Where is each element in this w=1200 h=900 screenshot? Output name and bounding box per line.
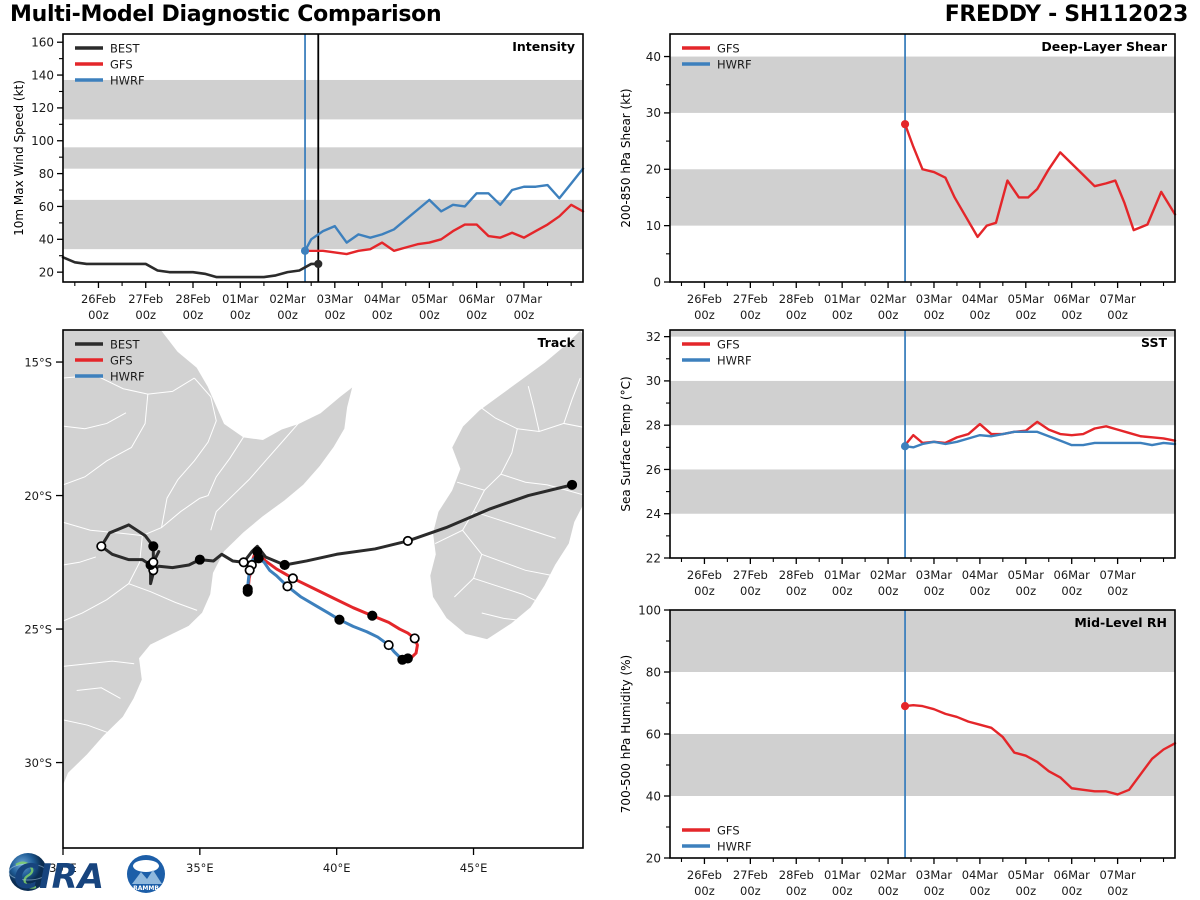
y-tick-label: 60 <box>646 727 661 741</box>
x-tick-label-date: 05Mar <box>1008 292 1045 306</box>
shaded-band <box>670 469 1175 513</box>
track-marker-open <box>410 634 418 642</box>
x-tick-label-date: 07Mar <box>506 292 543 306</box>
data-point-marker <box>901 703 908 710</box>
x-tick-label-date: 27Feb <box>128 292 163 306</box>
data-point-marker <box>901 121 908 128</box>
x-tick-label-hour: 00z <box>970 884 991 898</box>
series-line-best <box>63 257 318 277</box>
track-marker-filled <box>254 554 262 562</box>
map-x-tick-label: 40°E <box>323 861 351 875</box>
rh-plot-area <box>670 610 1175 858</box>
panel-rh: 2040608010026Feb00z27Feb00z28Feb00z01Mar… <box>600 600 1200 900</box>
x-tick-label-date: 28Feb <box>779 868 814 882</box>
x-tick-label-hour: 00z <box>183 308 204 322</box>
track-marker-open <box>149 558 157 566</box>
y-tick-label: 24 <box>646 507 661 521</box>
y-tick-label: 20 <box>646 851 661 865</box>
y-tick-label: 80 <box>39 167 54 181</box>
y-tick-label: 30 <box>646 374 661 388</box>
y-tick-label: 40 <box>646 50 661 64</box>
track-marker-filled <box>335 616 343 624</box>
x-tick-label-date: 06Mar <box>1054 868 1091 882</box>
track-marker-open <box>404 537 412 545</box>
x-tick-label-hour: 00z <box>924 584 945 598</box>
x-tick-label-date: 06Mar <box>1054 292 1091 306</box>
y-tick-label: 26 <box>646 463 661 477</box>
x-tick-label-hour: 00z <box>419 308 440 322</box>
y-tick-label: 120 <box>31 101 54 115</box>
panel-track: 30°E35°E40°E45°E15°S20°S25°S30°STrackBES… <box>0 322 600 900</box>
x-tick-label-date: 26Feb <box>81 292 116 306</box>
x-tick-label-date: 07Mar <box>1099 868 1136 882</box>
x-tick-label-hour: 00z <box>970 308 991 322</box>
legend-label-hwrf: HWRF <box>110 73 145 87</box>
data-point-marker <box>901 443 908 450</box>
track-marker-open <box>97 542 105 550</box>
track-marker-open <box>245 566 253 574</box>
x-tick-label-hour: 00z <box>1061 884 1082 898</box>
y-tick-label: 100 <box>31 134 54 148</box>
track-marker-filled <box>368 612 376 620</box>
x-tick-label-hour: 00z <box>786 584 807 598</box>
x-tick-label-hour: 00z <box>786 884 807 898</box>
y-tick-label: 32 <box>646 330 661 344</box>
x-tick-label-hour: 00z <box>878 884 899 898</box>
legend-label-gfs: GFS <box>110 353 133 367</box>
intensity-legend: BESTGFSHWRF <box>75 41 145 87</box>
y-axis-label: 200-850 hPa Shear (kt) <box>619 88 633 227</box>
panel-shear: 01020304026Feb00z27Feb00z28Feb00z01Mar00… <box>600 24 1200 324</box>
map-canvas <box>63 330 600 848</box>
y-tick-label: 22 <box>646 551 661 565</box>
x-tick-label-hour: 00z <box>832 584 853 598</box>
track-marker-filled <box>398 656 406 664</box>
y-tick-label: 28 <box>646 418 661 432</box>
sst-legend: GFSHWRF <box>682 337 752 367</box>
x-tick-label-date: 03Mar <box>916 568 953 582</box>
x-tick-label-date: 28Feb <box>779 292 814 306</box>
x-tick-label-date: 28Feb <box>176 292 211 306</box>
x-tick-label-date: 26Feb <box>687 292 722 306</box>
legend-label-hwrf: HWRF <box>717 57 752 71</box>
cira-wordmark: CIRA <box>14 857 104 896</box>
map-x-tick-label: 45°E <box>460 861 488 875</box>
x-tick-label-date: 01Mar <box>222 292 259 306</box>
x-tick-label-date: 07Mar <box>1099 568 1136 582</box>
y-axis-label: 10m Max Wind Speed (kt) <box>12 80 26 236</box>
x-tick-label-date: 05Mar <box>1008 568 1045 582</box>
x-tick-label-date: 01Mar <box>824 292 861 306</box>
x-tick-label-hour: 00z <box>466 308 487 322</box>
y-tick-label: 40 <box>646 789 661 803</box>
map-y-tick-label: 15°S <box>24 355 52 369</box>
x-tick-label-hour: 00z <box>1061 584 1082 598</box>
legend-label-hwrf: HWRF <box>110 369 145 383</box>
track-marker-open <box>384 641 392 649</box>
x-tick-label-hour: 00z <box>135 308 156 322</box>
y-axis-label: Sea Surface Temp (°C) <box>619 376 633 511</box>
panel-sst: 22242628303226Feb00z27Feb00z28Feb00z01Ma… <box>600 322 1200 602</box>
x-tick-label-date: 26Feb <box>687 568 722 582</box>
x-tick-label-date: 26Feb <box>687 868 722 882</box>
legend-label-gfs: GFS <box>110 57 133 71</box>
x-tick-label-hour: 00z <box>1061 308 1082 322</box>
svg-text:RAMMB: RAMMB <box>133 885 159 892</box>
x-tick-label-date: 03Mar <box>916 868 953 882</box>
x-tick-label-hour: 00z <box>832 308 853 322</box>
track-marker-filled <box>196 555 204 563</box>
x-tick-label-date: 04Mar <box>962 568 999 582</box>
legend-label-gfs: GFS <box>717 337 740 351</box>
y-axis-label: 700-500 hPa Humidity (%) <box>619 655 633 813</box>
track-marker-filled <box>244 585 252 593</box>
x-tick-label-date: 01Mar <box>824 568 861 582</box>
panel-intensity: 2040608010012014016026Feb00z27Feb00z28Fe… <box>0 24 600 324</box>
panel-title: SST <box>1141 335 1167 350</box>
x-tick-label-hour: 00z <box>324 308 345 322</box>
legend-label-best: BEST <box>110 337 140 351</box>
shaded-band <box>670 169 1175 225</box>
x-tick-label-date: 06Mar <box>1054 568 1091 582</box>
panel-title: Deep-Layer Shear <box>1041 39 1167 54</box>
panel-title: Mid-Level RH <box>1074 615 1167 630</box>
x-tick-label-hour: 00z <box>832 884 853 898</box>
x-tick-label-hour: 00z <box>1107 584 1128 598</box>
track-marker-filled <box>280 561 288 569</box>
x-tick-label-hour: 00z <box>514 308 535 322</box>
data-point-marker <box>301 247 308 254</box>
legend-label-hwrf: HWRF <box>717 839 752 853</box>
x-tick-label-hour: 00z <box>277 308 298 322</box>
x-tick-label-hour: 00z <box>970 584 991 598</box>
intensity-plot-area <box>63 34 583 282</box>
y-tick-label: 140 <box>31 68 54 82</box>
rammb-icon: RAMMB <box>127 855 165 893</box>
y-tick-label: 40 <box>39 233 54 247</box>
x-tick-label-date: 05Mar <box>411 292 448 306</box>
x-tick-label-hour: 00z <box>878 584 899 598</box>
x-tick-label-date: 05Mar <box>1008 868 1045 882</box>
track-marker-filled <box>149 542 157 550</box>
y-tick-label: 10 <box>646 219 661 233</box>
x-tick-label-date: 04Mar <box>962 292 999 306</box>
x-tick-label-date: 28Feb <box>779 568 814 582</box>
panel-title: Intensity <box>512 39 575 54</box>
x-tick-label-date: 03Mar <box>317 292 354 306</box>
legend-label-hwrf: HWRF <box>717 353 752 367</box>
y-tick-label: 100 <box>638 603 661 617</box>
map-y-tick-label: 20°S <box>24 489 52 503</box>
map-x-tick-label: 35°E <box>186 861 214 875</box>
x-tick-label-date: 06Mar <box>458 292 495 306</box>
x-tick-label-hour: 00z <box>694 584 715 598</box>
shaded-band <box>63 147 583 168</box>
x-tick-label-date: 02Mar <box>870 568 907 582</box>
x-tick-label-hour: 00z <box>924 884 945 898</box>
x-tick-label-hour: 00z <box>88 308 109 322</box>
track-marker-open <box>283 582 291 590</box>
legend-label-gfs: GFS <box>717 41 740 55</box>
y-tick-label: 30 <box>646 106 661 120</box>
x-tick-label-hour: 00z <box>1107 884 1128 898</box>
x-tick-label-hour: 00z <box>878 308 899 322</box>
x-tick-label-hour: 00z <box>230 308 251 322</box>
y-tick-label: 20 <box>646 163 661 177</box>
x-tick-label-hour: 00z <box>1015 584 1036 598</box>
data-point-marker <box>315 260 322 267</box>
shaded-band <box>670 381 1175 425</box>
x-tick-label-date: 27Feb <box>733 568 768 582</box>
shaded-band <box>63 200 583 249</box>
x-tick-label-hour: 00z <box>740 584 761 598</box>
shaded-band <box>670 330 1175 337</box>
x-tick-label-date: 07Mar <box>1099 292 1136 306</box>
x-tick-label-hour: 00z <box>740 884 761 898</box>
x-tick-label-hour: 00z <box>924 308 945 322</box>
y-tick-label: 60 <box>39 200 54 214</box>
y-tick-label: 0 <box>653 275 661 289</box>
shaded-band <box>670 734 1175 796</box>
x-tick-label-hour: 00z <box>372 308 393 322</box>
x-tick-label-date: 01Mar <box>824 868 861 882</box>
x-tick-label-date: 03Mar <box>916 292 953 306</box>
map-y-tick-label: 30°S <box>24 756 52 770</box>
x-tick-label-date: 02Mar <box>870 868 907 882</box>
track-marker-open <box>239 558 247 566</box>
x-tick-label-hour: 00z <box>694 308 715 322</box>
cira-logo: CIRA RAMMB <box>6 850 186 896</box>
x-tick-label-hour: 00z <box>694 884 715 898</box>
x-tick-label-hour: 00z <box>1015 308 1036 322</box>
x-tick-label-hour: 00z <box>1015 884 1036 898</box>
x-tick-label-date: 04Mar <box>364 292 401 306</box>
panel-title: Track <box>538 335 576 350</box>
map-y-tick-label: 25°S <box>24 622 52 636</box>
track-marker-filled <box>568 481 576 489</box>
x-tick-label-date: 04Mar <box>962 868 999 882</box>
legend-label-best: BEST <box>110 41 140 55</box>
x-tick-label-hour: 00z <box>1107 308 1128 322</box>
legend-label-gfs: GFS <box>717 823 740 837</box>
x-tick-label-date: 27Feb <box>733 292 768 306</box>
x-tick-label-date: 27Feb <box>733 868 768 882</box>
x-tick-label-hour: 00z <box>786 308 807 322</box>
x-tick-label-date: 02Mar <box>269 292 306 306</box>
track-marker-open <box>289 574 297 582</box>
y-tick-label: 20 <box>39 265 54 279</box>
rh-legend: GFSHWRF <box>682 823 752 853</box>
x-tick-label-date: 02Mar <box>870 292 907 306</box>
y-tick-label: 80 <box>646 665 661 679</box>
y-tick-label: 160 <box>31 36 54 50</box>
x-tick-label-hour: 00z <box>740 308 761 322</box>
